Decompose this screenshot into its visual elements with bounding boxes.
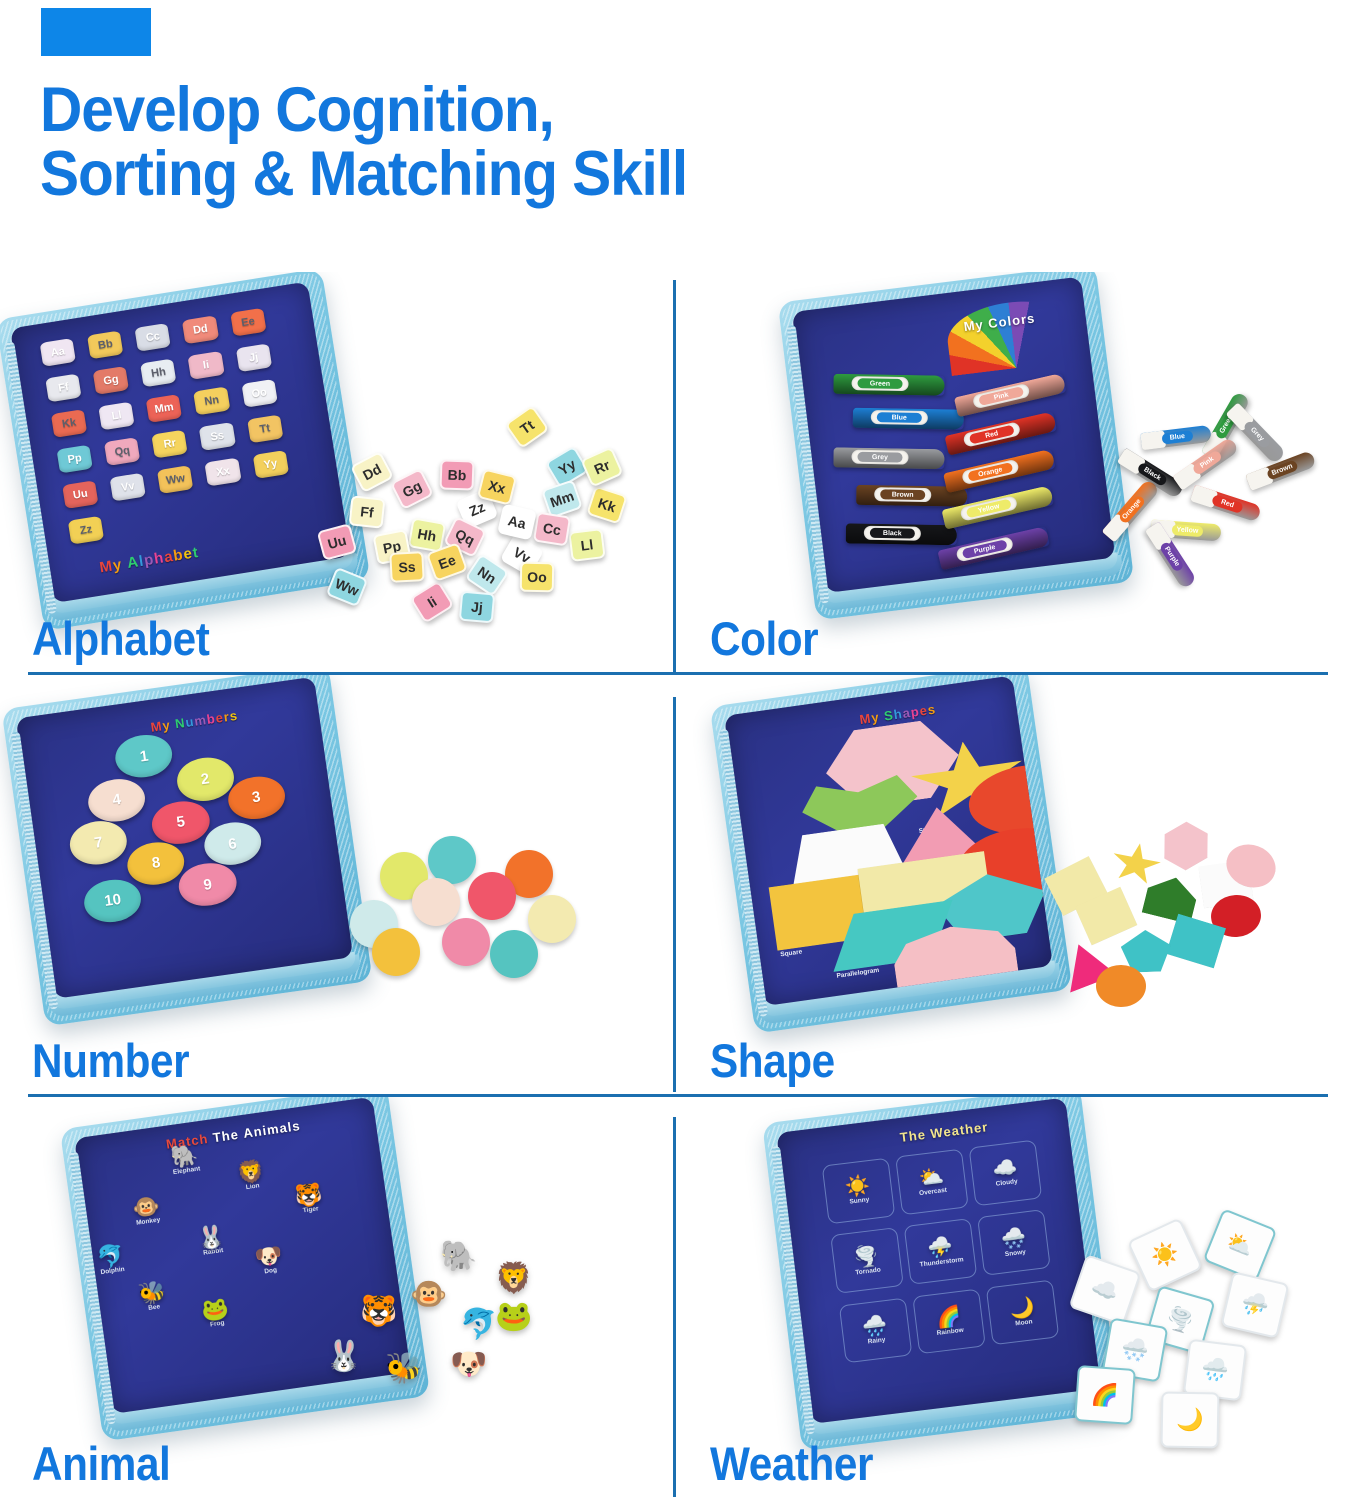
alphabet-tile: Zz: [68, 516, 104, 545]
weather-moon: 🌙Moon: [986, 1279, 1060, 1345]
loose-crayon: Grey: [1226, 402, 1287, 464]
weather-tornado: 🌪️Tornado: [830, 1228, 904, 1294]
animal-frog: 🐸Frog: [200, 1297, 231, 1330]
alphabet-tile: Uu: [62, 481, 98, 510]
alphabet-tile: Ff: [45, 374, 81, 403]
alphabet-tile: Oo: [241, 379, 277, 408]
crayon-pink: Pink: [954, 373, 1066, 417]
crayon-grey: Grey: [834, 447, 945, 469]
loose-animal-piece: 🦁: [495, 1264, 532, 1294]
animal-elephant: 🐘Elephant: [170, 1144, 201, 1177]
alphabet-tile: Ll: [99, 402, 135, 431]
alphabet-tile: Xx: [205, 458, 241, 487]
loose-letter-tile: Ff: [349, 495, 386, 528]
alphabet-tile: Ss: [199, 422, 235, 451]
category-label-alphabet: Alphabet: [32, 611, 209, 666]
alphabet-tile: Dd: [182, 316, 218, 345]
loose-animal-piece: 🐯: [360, 1297, 397, 1327]
counting-token: [528, 895, 576, 943]
number-circle-9: 9: [176, 860, 239, 910]
counting-token: [468, 872, 516, 920]
feature-grid: AaBbCcDdEeFfGgHhIiJjKkLlMmNnOoPpQqRrSsTt…: [0, 272, 1355, 1500]
panel-shape: My Shapes HexagonStarHeartOvalTrapezoidT…: [676, 675, 1355, 1094]
page-title: Develop Cognition, Sorting & Matching Sk…: [40, 78, 1063, 207]
weather-thunderstorm: ⛈️Thunderstorm: [904, 1218, 978, 1284]
number-book: My Numbers 12345678910: [1, 675, 372, 1026]
loose-animal-piece: 🐬: [460, 1310, 497, 1340]
loose-animal-piece: 🐘: [440, 1242, 477, 1272]
shape-book: My Shapes HexagonStarHeartOvalTrapezoidT…: [710, 675, 1073, 1034]
alphabet-tile: Ee: [230, 308, 266, 337]
counting-token: [490, 930, 538, 978]
alphabet-book: AaBbCcDdEeFfGgHhIiJjKkLlMmNnOoPpQqRrSsTt…: [0, 272, 371, 631]
loose-crayon: Blue: [1140, 425, 1212, 450]
animal-board: 🐘Elephant🦁Lion🐵Monkey🐯Tiger🐬Dolphin🐰Rabb…: [74, 1097, 372, 1139]
loose-letter-tile: Uu: [317, 523, 358, 561]
alphabet-tile: Jj: [236, 344, 272, 373]
weather-flashcard: 🌙: [1161, 1391, 1220, 1448]
loose-felt-shape: [1107, 839, 1164, 890]
animal-loose-pieces: 🐘🦁🐵🐯🐬🐰🐝🐶🐸: [300, 1242, 560, 1452]
alphabet-tile: Rr: [152, 430, 188, 459]
animal-dolphin: 🐬Dolphin: [96, 1244, 127, 1277]
color-loose-crayons: GreenBlueGreyBrownBlackPinkRedOrangeYell…: [1096, 407, 1326, 597]
alphabet-loose-tiles: TtBbYyFfGgHhZzXxMmKkUuWwPpQqLlVvSsNnOoIi…: [320, 412, 630, 627]
alphabet-tile: Vv: [110, 473, 146, 502]
alphabet-tile: Pp: [57, 445, 93, 474]
shape-loose-pieces: [1051, 825, 1301, 1015]
alphabet-tile: Yy: [252, 451, 288, 480]
loose-letter-tile: Ii: [410, 580, 455, 623]
number-circle-10: 10: [81, 876, 144, 926]
alphabet-tile: Gg: [93, 366, 129, 395]
alphabet-tile: Bb: [87, 331, 123, 360]
number-circle-5: 5: [150, 798, 213, 848]
alphabet-tile: Ww: [157, 466, 193, 495]
category-label-shape: Shape: [710, 1033, 835, 1088]
number-circle-1: 1: [113, 731, 176, 781]
loose-animal-piece: 🐝: [385, 1354, 422, 1384]
alphabet-tile: Nn: [194, 387, 230, 416]
number-circle-4: 4: [86, 775, 149, 825]
shape-board: HexagonStarHeartOvalTrapezoidTriangleRou…: [724, 675, 1012, 715]
weather-sunny: ☀️Sunny: [821, 1158, 895, 1224]
animal-rabbit: 🐰Rabbit: [196, 1224, 227, 1257]
number-loose-tokens: [350, 830, 600, 1010]
number-circle-6: 6: [201, 819, 264, 869]
animal-tiger: 🐯Tiger: [294, 1183, 325, 1216]
loose-felt-shape: [1142, 872, 1201, 925]
crayon-orange: Orange: [943, 448, 1055, 492]
weather-snowy: 🌨️Snowy: [977, 1209, 1051, 1275]
category-label-color: Color: [710, 611, 818, 666]
loose-letter-tile: Bb: [439, 459, 474, 490]
weather-overcast: ⛅Overcast: [895, 1149, 969, 1215]
weather-loose-cards: ☀️⛅☁️🌪️⛈️🌨️🌧️🌈🌙: [1076, 1217, 1341, 1452]
color-book: My Colors GreenBlueGreyBrownBlackPinkRed…: [778, 272, 1135, 620]
counting-token: [412, 878, 460, 926]
counting-token: [428, 836, 476, 884]
weather-flashcard: ⛅: [1203, 1208, 1278, 1282]
weather-book: The Weather ☀️Sunny⛅Overcast☁️Cloudy🌪️To…: [762, 1097, 1120, 1451]
loose-letter-tile: Ww: [326, 567, 369, 608]
alphabet-tile-grid: AaBbCcDdEeFfGgHhIiJjKkLlMmNnOoPpQqRrSsTt…: [40, 305, 316, 547]
loose-letter-tile: Kk: [586, 485, 628, 524]
loose-letter-tile: Oo: [520, 562, 555, 593]
loose-letter-tile: Cc: [533, 512, 571, 547]
loose-letter-tile: Gg: [390, 468, 434, 510]
loose-letter-tile: Dd: [350, 451, 394, 493]
crayon-green: Green: [833, 373, 944, 395]
animal-lion: 🦁Lion: [236, 1160, 267, 1193]
alphabet-tile: Cc: [135, 323, 171, 352]
category-label-number: Number: [32, 1033, 189, 1088]
loose-animal-piece: 🐶: [450, 1350, 487, 1380]
alphabet-tile: Kk: [51, 410, 87, 439]
weather-rainbow: 🌈Rainbow: [912, 1288, 986, 1354]
infographic-page: Develop Cognition, Sorting & Matching Sk…: [0, 0, 1355, 1500]
panel-number: My Numbers 12345678910 Number: [0, 675, 673, 1094]
number-circle-2: 2: [174, 754, 237, 804]
alphabet-book-title: My Alphabet: [98, 543, 200, 575]
panel-color: My Colors GreenBlueGreyBrownBlackPinkRed…: [676, 272, 1355, 672]
accent-square: [41, 8, 151, 56]
animal-dog: 🐶Dog: [254, 1244, 285, 1277]
loose-letter-tile: Rr: [580, 446, 623, 487]
number-circle-7: 7: [67, 818, 130, 868]
animal-monkey: 🐵Monkey: [131, 1194, 162, 1227]
alphabet-tile: Aa: [40, 338, 76, 367]
panel-alphabet: AaBbCcDdEeFfGgHhIiJjKkLlMmNnOoPpQqRrSsTt…: [0, 272, 673, 672]
loose-letter-tile: Tt: [504, 405, 549, 449]
number-circle-3: 3: [225, 773, 288, 823]
loose-letter-tile: Ss: [389, 551, 425, 583]
loose-letter-tile: Ll: [568, 528, 605, 562]
number-board: 12345678910: [16, 677, 314, 719]
alphabet-tile: Tt: [247, 415, 283, 444]
alphabet-tile: Hh: [140, 359, 176, 388]
weather-flashcard: ☁️: [1068, 1254, 1141, 1326]
loose-letter-tile: Aa: [497, 504, 537, 541]
loose-letter-tile: Jj: [459, 591, 495, 624]
weather-flashcard: ⛈️: [1220, 1271, 1289, 1339]
crayon-black: Black: [846, 523, 957, 545]
panel-weather: The Weather ☀️Sunny⛅Overcast☁️Cloudy🌪️To…: [676, 1097, 1355, 1497]
loose-animal-piece: 🐸: [495, 1302, 532, 1332]
category-label-animal: Animal: [32, 1436, 170, 1491]
crayon-blue: Blue: [852, 408, 963, 430]
weather-cloudy: ☁️Cloudy: [969, 1140, 1043, 1206]
panel-animal: Match The Animals 🐘Elephant🦁Lion🐵Monkey🐯…: [0, 1097, 673, 1497]
weather-book-title: The Weather: [899, 1119, 989, 1145]
alphabet-tile: Ii: [188, 351, 224, 380]
weather-rainy: 🌧️Rainy: [839, 1297, 913, 1363]
number-circle-8: 8: [125, 838, 188, 888]
category-label-weather: Weather: [710, 1436, 873, 1491]
loose-animal-piece: 🐰: [325, 1342, 362, 1372]
counting-token: [372, 928, 420, 976]
alphabet-tile: Qq: [104, 438, 140, 467]
rainbow-graphic: [944, 295, 1081, 376]
animal-bee: 🐝Bee: [137, 1280, 168, 1313]
number-book-title: My Numbers: [150, 708, 239, 735]
loose-animal-piece: 🐵: [410, 1280, 447, 1310]
weather-board: ☀️Sunny⛅Overcast☁️Cloudy🌪️Tornado⛈️Thund…: [776, 1098, 1065, 1133]
alphabet-tile: Mm: [146, 394, 182, 423]
weather-flashcard: 🌈: [1074, 1365, 1136, 1425]
counting-token: [442, 918, 490, 966]
